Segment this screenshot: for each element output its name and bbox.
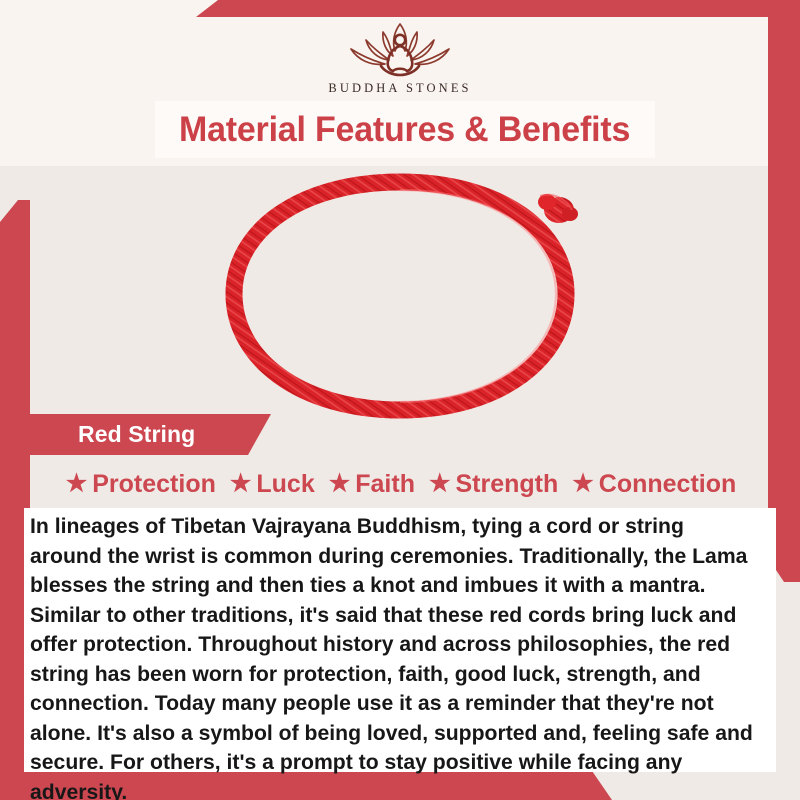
product-photo — [32, 166, 768, 424]
feature-item-luck: ★ Luck — [230, 470, 315, 499]
infographic-page: BUDDHA STONES Material Features & Benefi… — [0, 0, 800, 800]
feature-item-connection: ★ Connection — [572, 470, 736, 499]
feature-list: ★ Protection ★ Luck ★ Faith ★ Strength ★… — [26, 462, 776, 506]
feature-label: Strength — [455, 470, 558, 499]
feature-item-strength: ★ Strength — [429, 470, 558, 499]
lotus-meditation-icon — [325, 18, 475, 80]
product-name-banner: Red String — [26, 414, 271, 455]
page-title: Material Features & Benefits — [179, 110, 630, 150]
feature-item-faith: ★ Faith — [329, 470, 415, 499]
description-card: In lineages of Tibetan Vajrayana Buddhis… — [24, 508, 776, 772]
star-icon: ★ — [429, 472, 451, 496]
feature-label: Luck — [256, 470, 314, 499]
feature-label: Faith — [355, 470, 415, 499]
description-text: In lineages of Tibetan Vajrayana Buddhis… — [30, 512, 761, 800]
star-icon: ★ — [572, 472, 594, 496]
brand-logo: BUDDHA STONES — [0, 18, 800, 104]
brand-name: BUDDHA STONES — [328, 81, 471, 96]
feature-label: Protection — [92, 470, 216, 499]
star-icon: ★ — [66, 472, 88, 496]
star-icon: ★ — [230, 472, 252, 496]
product-name: Red String — [78, 421, 195, 448]
feature-item-protection: ★ Protection — [66, 470, 216, 499]
star-icon: ★ — [329, 472, 351, 496]
feature-label: Connection — [599, 470, 737, 499]
title-band: Material Features & Benefits — [155, 101, 655, 158]
red-braided-bracelet-image — [32, 166, 768, 424]
